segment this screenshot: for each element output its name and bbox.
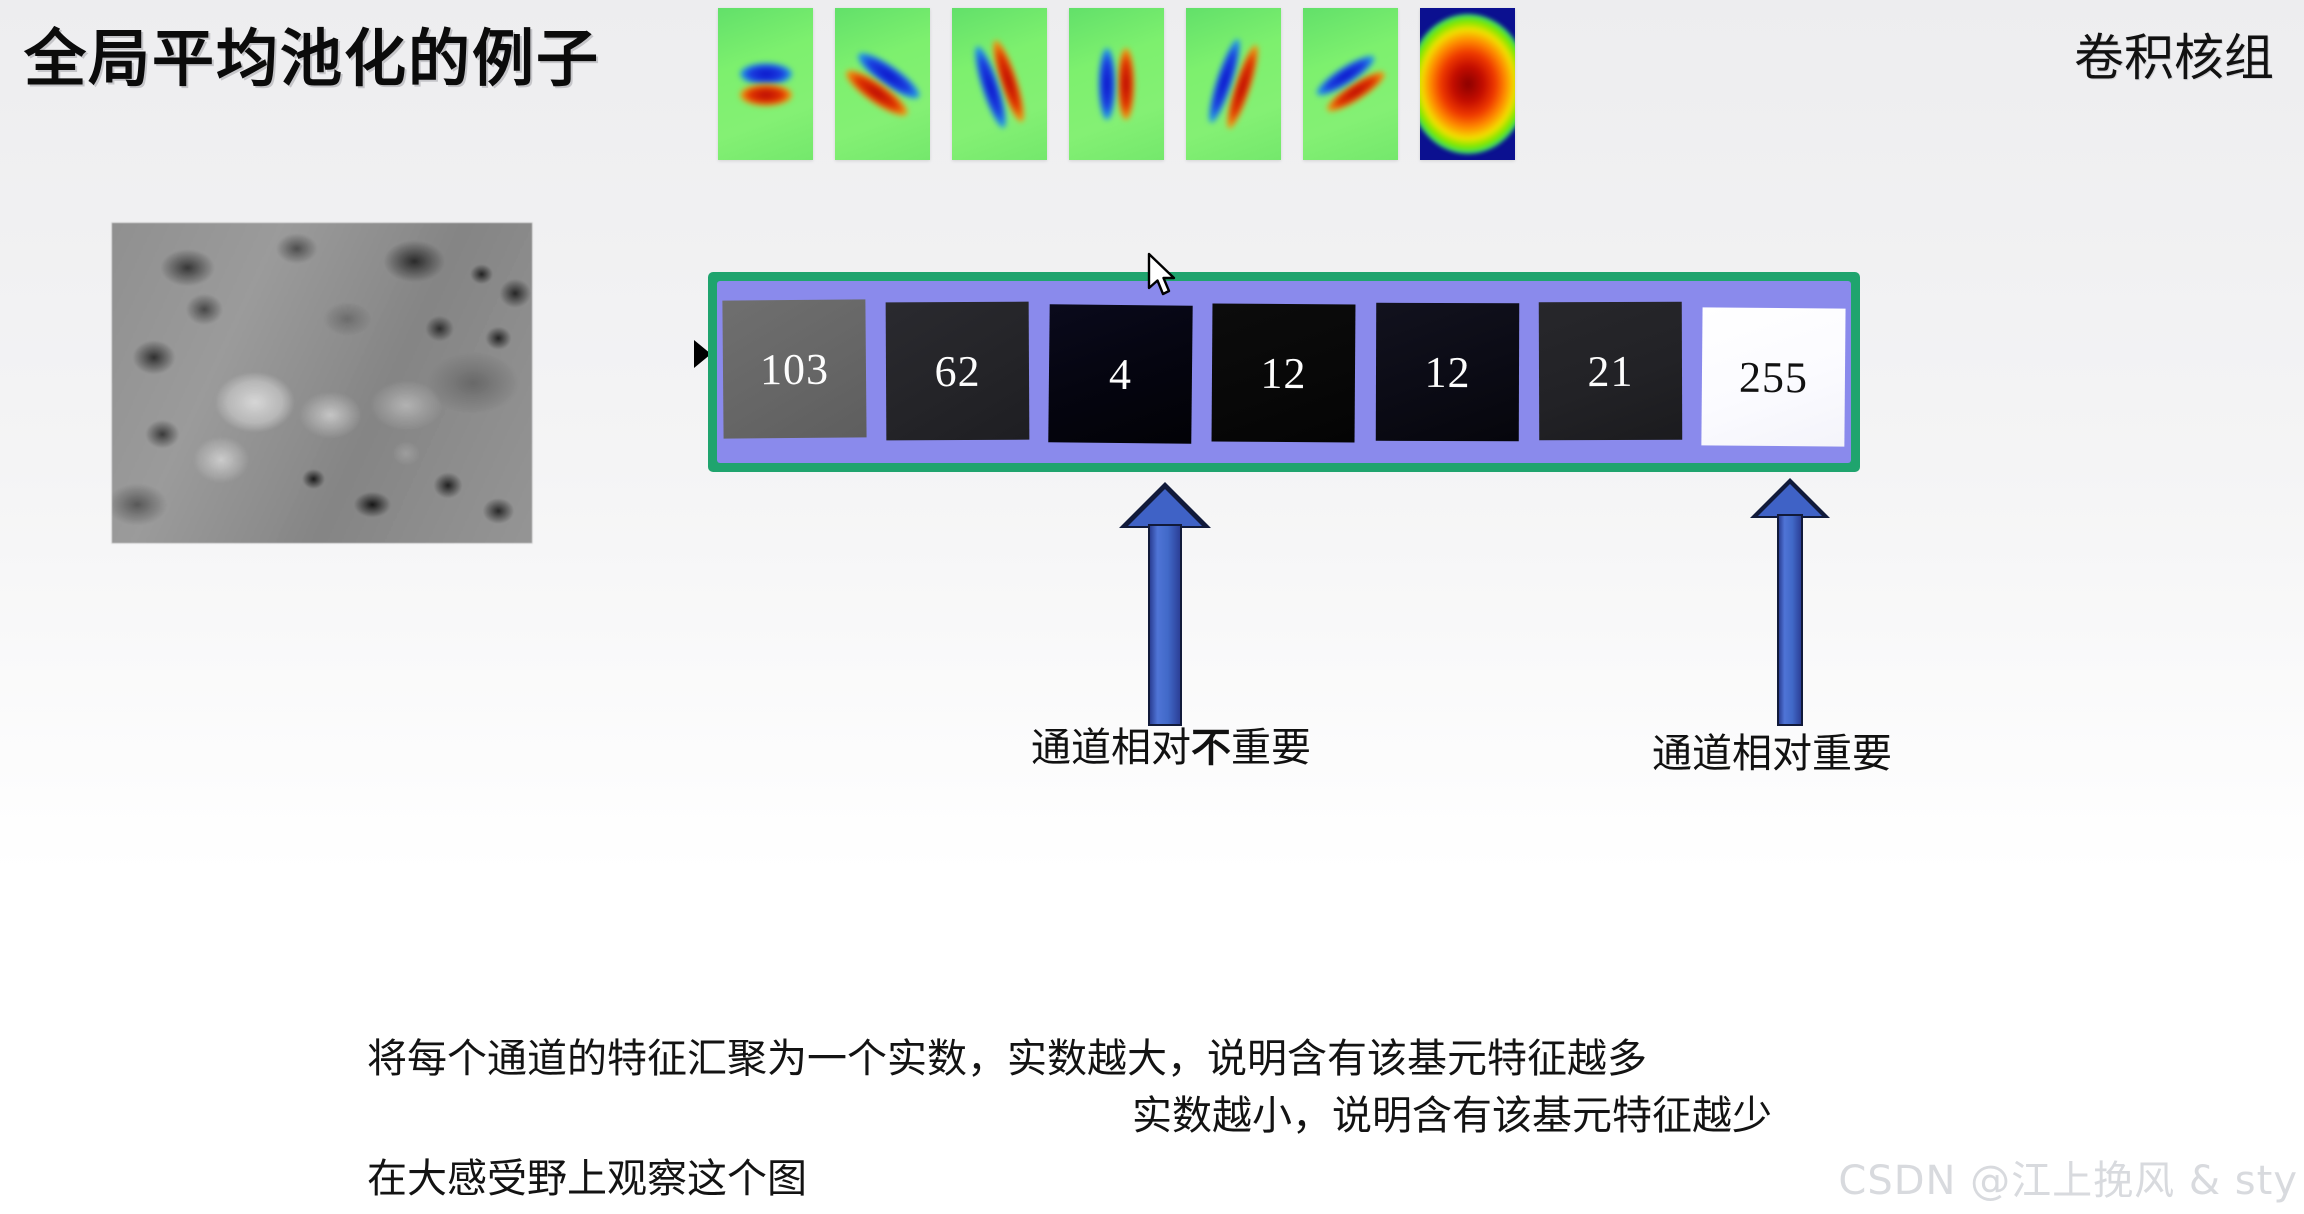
channel-cell[interactable]: 255 <box>1701 307 1845 446</box>
channel-cell[interactable]: 12 <box>1375 303 1518 441</box>
channel-value: 12 <box>1261 347 1307 398</box>
channel-value: 4 <box>1109 348 1133 399</box>
kernel-thumbnail-6 <box>1303 8 1398 160</box>
slide-canvas: 全局平均池化的例子 卷积核组 <box>0 0 2304 1214</box>
caption-emphasis: 不 <box>1191 725 1231 771</box>
kernel-background <box>1186 8 1281 160</box>
channel-value: 255 <box>1739 351 1808 403</box>
channel-cell[interactable]: 4 <box>1049 304 1193 443</box>
kernel-lobe-blue <box>1098 48 1115 120</box>
up-arrow-unimportant <box>1100 482 1230 726</box>
channel-value: 103 <box>760 343 829 395</box>
channel-cell[interactable]: 62 <box>886 302 1030 441</box>
grayscale-texture-image <box>112 223 532 543</box>
channel-value: 12 <box>1424 346 1470 397</box>
kernel-lobe-red <box>740 84 792 106</box>
page-title: 全局平均池化的例子 <box>24 8 600 98</box>
channel-row-inner-band: 103 62 4 12 12 21 <box>717 281 1851 463</box>
caption-channel-important: 通道相对重要 <box>1652 721 1892 779</box>
channel-value-row: 103 62 4 12 12 21 <box>708 272 1860 472</box>
caption-channel-unimportant: 通道相对不重要 <box>1031 715 1311 773</box>
caption-prefix: 通道相对 <box>1031 725 1191 771</box>
caption-suffix: 重要 <box>1231 725 1311 771</box>
kernel-thumbnail-1 <box>718 8 813 160</box>
csdn-watermark: CSDN @江上挽风 & sty <box>1838 1148 2298 1206</box>
channel-value: 62 <box>935 345 981 396</box>
convolution-kernel-strip <box>718 8 1515 168</box>
arrow-shaft <box>1777 514 1803 726</box>
kernel-thumbnail-7 <box>1420 8 1515 160</box>
channel-cell[interactable]: 21 <box>1539 302 1682 440</box>
kernel-thumbnail-2 <box>835 8 930 160</box>
arrow-shaft <box>1148 524 1182 726</box>
kernel-lobe-red <box>1117 48 1134 120</box>
kernel-radial-blob <box>1420 14 1515 154</box>
body-text-line-2: 实数越小，说明含有该基元特征越少 <box>1132 1083 1772 1141</box>
up-arrow-important <box>1735 478 1845 726</box>
channel-cell[interactable]: 103 <box>722 299 866 438</box>
kernel-group-label: 卷积核组 <box>2074 18 2274 90</box>
body-text-line-3: 在大感受野上观察这个图 <box>367 1146 807 1204</box>
channel-cell[interactable]: 12 <box>1212 304 1356 443</box>
body-text-line-1: 将每个通道的特征汇聚为一个实数，实数越大，说明含有该基元特征越多 <box>367 1026 1647 1084</box>
kernel-background <box>952 8 1047 160</box>
kernel-lobe-blue <box>740 63 792 85</box>
kernel-thumbnail-4 <box>1069 8 1164 160</box>
kernel-thumbnail-3 <box>952 8 1047 160</box>
kernel-background <box>1069 8 1164 160</box>
channel-value: 21 <box>1587 345 1633 396</box>
kernel-thumbnail-5 <box>1186 8 1281 160</box>
